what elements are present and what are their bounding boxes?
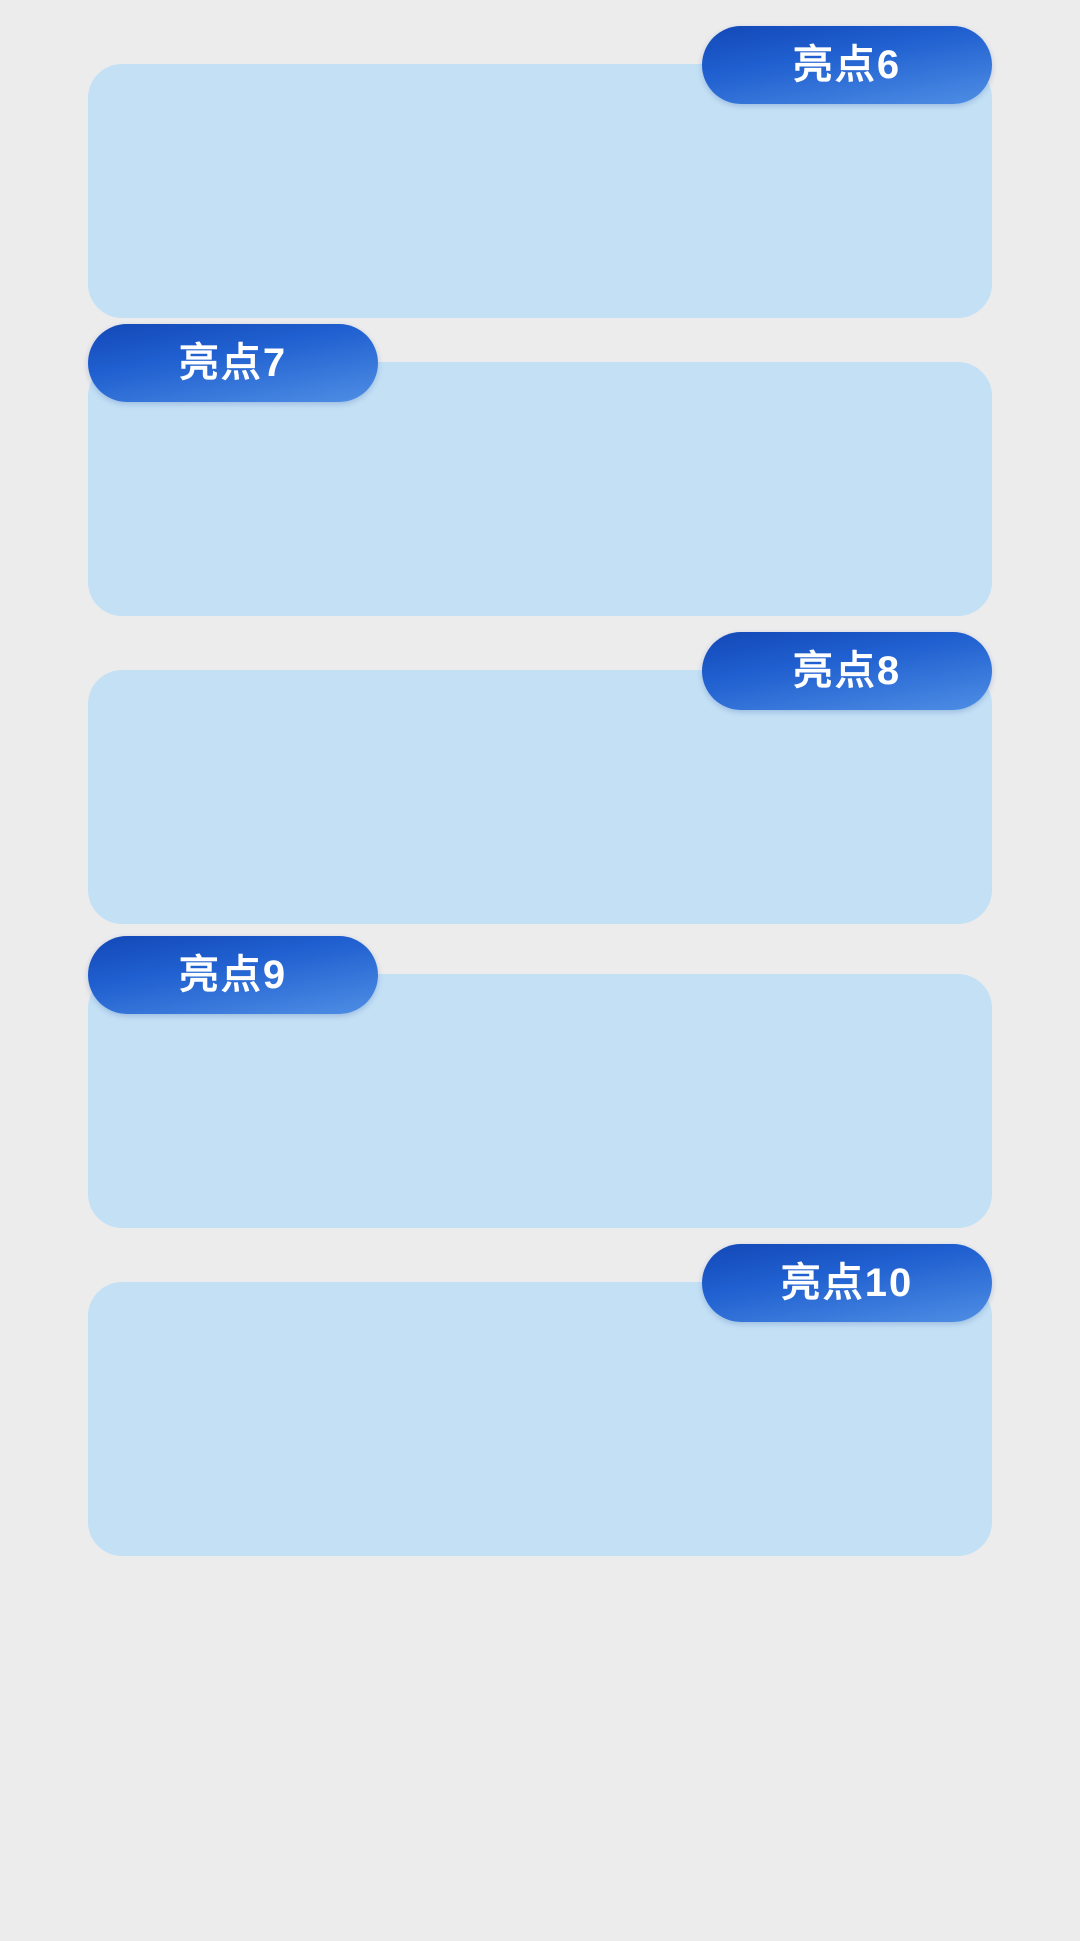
card-tab-label: 亮点8 (793, 651, 901, 691)
card-tab-6[interactable]: 亮点6 (702, 26, 992, 104)
card-tab-10[interactable]: 亮点10 (702, 1244, 992, 1322)
card-shell (88, 1282, 992, 1556)
card-tab-7[interactable]: 亮点7 (88, 324, 378, 402)
card-tab-label: 亮点9 (179, 955, 287, 995)
card-tab-8[interactable]: 亮点8 (702, 632, 992, 710)
card-tab-label: 亮点6 (793, 45, 901, 85)
card-tab-9[interactable]: 亮点9 (88, 936, 378, 1014)
card-tab-label: 亮点10 (781, 1263, 914, 1303)
infographic-page: 亮点6 (0, 0, 1080, 1941)
card-tab-label: 亮点7 (179, 343, 287, 383)
